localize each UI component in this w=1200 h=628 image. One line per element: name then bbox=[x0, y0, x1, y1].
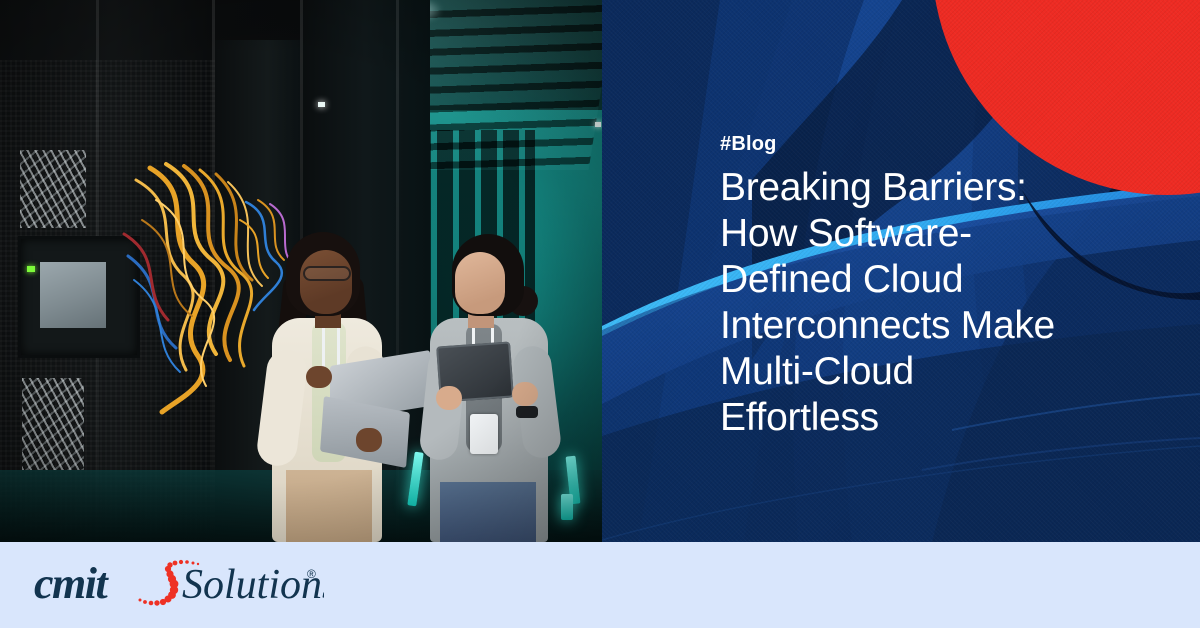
headline-line: Defined Cloud bbox=[720, 258, 963, 301]
headline-line: Breaking Barriers: bbox=[720, 166, 1027, 209]
cmit-solutions-logo[interactable]: cmit bbox=[34, 558, 324, 612]
data-center-photo bbox=[0, 0, 602, 542]
blog-promo-card: #Blog Breaking Barriers: How Software- D… bbox=[0, 0, 1200, 628]
headline-line: Interconnects Make bbox=[720, 304, 1055, 347]
headline-line: Effortless bbox=[720, 396, 879, 439]
blog-tag: #Blog bbox=[720, 132, 1150, 156]
photo-vignette bbox=[0, 0, 602, 542]
headline-line: How Software- bbox=[720, 212, 972, 255]
logo-wordmark-solutions: Solutions bbox=[182, 562, 324, 608]
hero-panel: #Blog Breaking Barriers: How Software- D… bbox=[602, 0, 1200, 542]
page-title: Breaking Barriers: How Software- Defined… bbox=[720, 165, 1150, 441]
card-top-row: #Blog Breaking Barriers: How Software- D… bbox=[0, 0, 1200, 542]
hero-text-block: #Blog Breaking Barriers: How Software- D… bbox=[720, 132, 1150, 441]
logo-artwork: cmit bbox=[34, 558, 324, 612]
logo-wordmark-cmit: cmit bbox=[34, 559, 109, 608]
brand-bar: cmit bbox=[0, 542, 1200, 628]
registered-trademark-icon: ® bbox=[307, 567, 316, 581]
headline-line: Multi-Cloud bbox=[720, 350, 914, 393]
